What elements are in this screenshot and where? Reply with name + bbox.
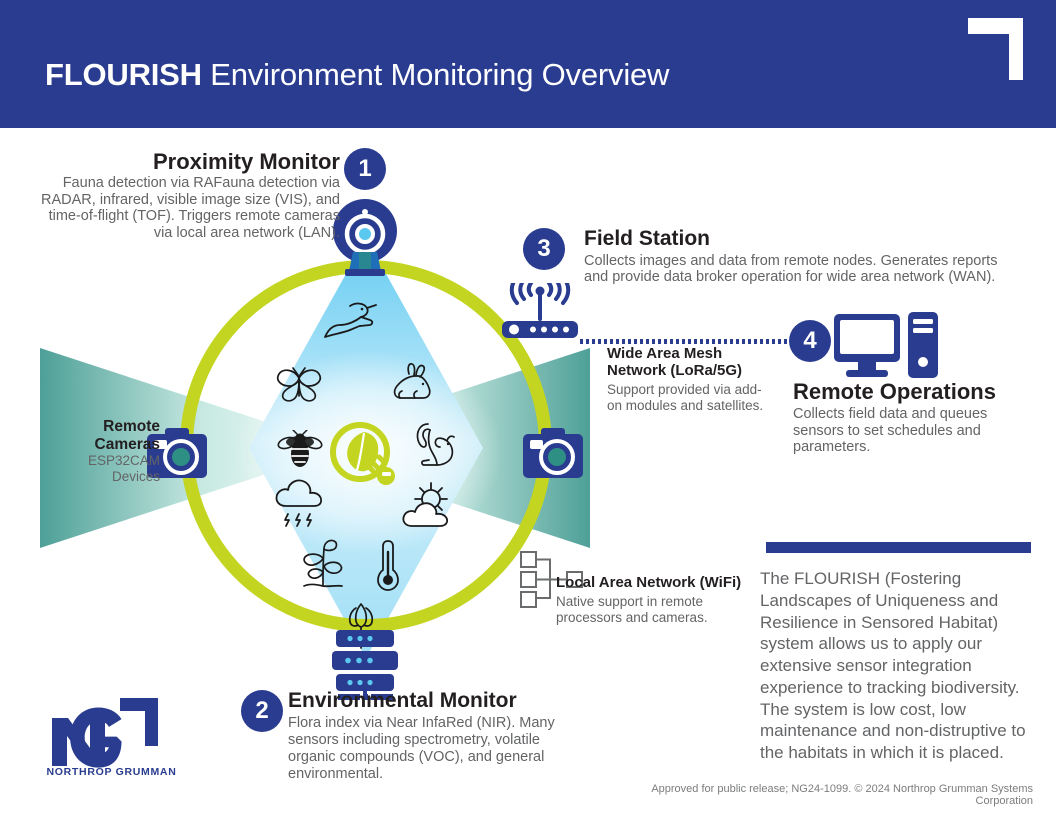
- northrop-corner-mark-icon: [968, 18, 1023, 80]
- panel-divider: [766, 542, 1031, 553]
- diagram-canvas: 1 2 3 4 Proximity Monitor Fauna detectio…: [0, 128, 1056, 815]
- hummingbird-icon: [320, 299, 378, 347]
- page-title-brand: FLOURISH: [45, 57, 202, 92]
- badge-1: 1: [344, 148, 386, 190]
- approval-footnote: Approved for public release; NG24-1099. …: [603, 783, 1033, 807]
- field-station-title: Field Station: [584, 228, 1004, 251]
- remote-operations-block: Remote Operations Collects field data an…: [793, 380, 1028, 456]
- seedling-icon: [296, 536, 350, 592]
- rabbit-icon: [385, 362, 437, 404]
- proximity-monitor-block: Proximity Monitor Fauna detection via RA…: [30, 150, 340, 242]
- environmental-monitor-block: Environmental Monitor Flora index via Ne…: [288, 689, 578, 782]
- remote-cameras-body: ESP32CAM Devices: [45, 453, 160, 485]
- sun-cloud-icon: [400, 480, 458, 532]
- wireless-router-icon: [495, 283, 585, 352]
- field-station-block: Field Station Collects images and data f…: [584, 228, 1004, 286]
- local-area-network-body: Native support in remote processors and …: [556, 594, 746, 626]
- local-area-network-block: Local Area Network (WiFi) Native support…: [556, 575, 746, 626]
- remote-operations-title: Remote Operations: [793, 380, 1028, 404]
- page-title: FLOURISH Environment Monitoring Overview: [45, 57, 669, 93]
- badge-2: 2: [241, 690, 283, 732]
- page-title-rest: Environment Monitoring Overview: [202, 57, 669, 92]
- storm-cloud-icon: [272, 476, 328, 528]
- proximity-monitor-title: Proximity Monitor: [30, 150, 340, 174]
- wide-area-mesh-body: Support provided via add-on modules and …: [607, 382, 767, 414]
- remote-camera-right-icon: [519, 424, 587, 489]
- badge-3: 3: [523, 228, 565, 270]
- badge-4: 4: [789, 320, 831, 362]
- wide-area-mesh-block: Wide Area Mesh Network (LoRa/5G) Support…: [607, 346, 767, 414]
- panel-description: The FLOURISH (Fostering Landscapes of Un…: [760, 568, 1035, 764]
- infographic-page: FLOURISH Environment Monitoring Overview: [0, 0, 1056, 815]
- bee-icon: [277, 430, 323, 470]
- leaf-plug-emblem-icon: [324, 416, 404, 496]
- squirrel-icon: [414, 420, 460, 470]
- northrop-grumman-logo-icon: [46, 694, 176, 774]
- wan-dotted-link: [580, 339, 792, 344]
- local-area-network-title: Local Area Network (WiFi): [556, 575, 746, 592]
- thermometer-icon: [374, 536, 402, 592]
- remote-operations-body: Collects field data and queues sensors t…: [793, 406, 1028, 456]
- desktop-computer-icon: [832, 312, 940, 385]
- remote-cameras-block: Remote Cameras ESP32CAM Devices: [45, 418, 160, 485]
- wide-area-mesh-title: Wide Area Mesh Network (LoRa/5G): [607, 346, 767, 380]
- page-header: FLOURISH Environment Monitoring Overview: [0, 0, 1056, 128]
- remote-cameras-title: Remote Cameras: [45, 418, 160, 453]
- environmental-monitor-body: Flora index via Near InfaRed (NIR). Many…: [288, 715, 578, 782]
- butterfly-icon: [275, 366, 323, 406]
- northrop-grumman-wordmark: NORTHROP GRUMMAN: [44, 766, 179, 778]
- environmental-monitor-title: Environmental Monitor: [288, 689, 578, 712]
- proximity-monitor-body: Fauna detection via RAFauna detection vi…: [30, 175, 340, 242]
- field-station-body: Collects images and data from remote nod…: [584, 253, 1004, 287]
